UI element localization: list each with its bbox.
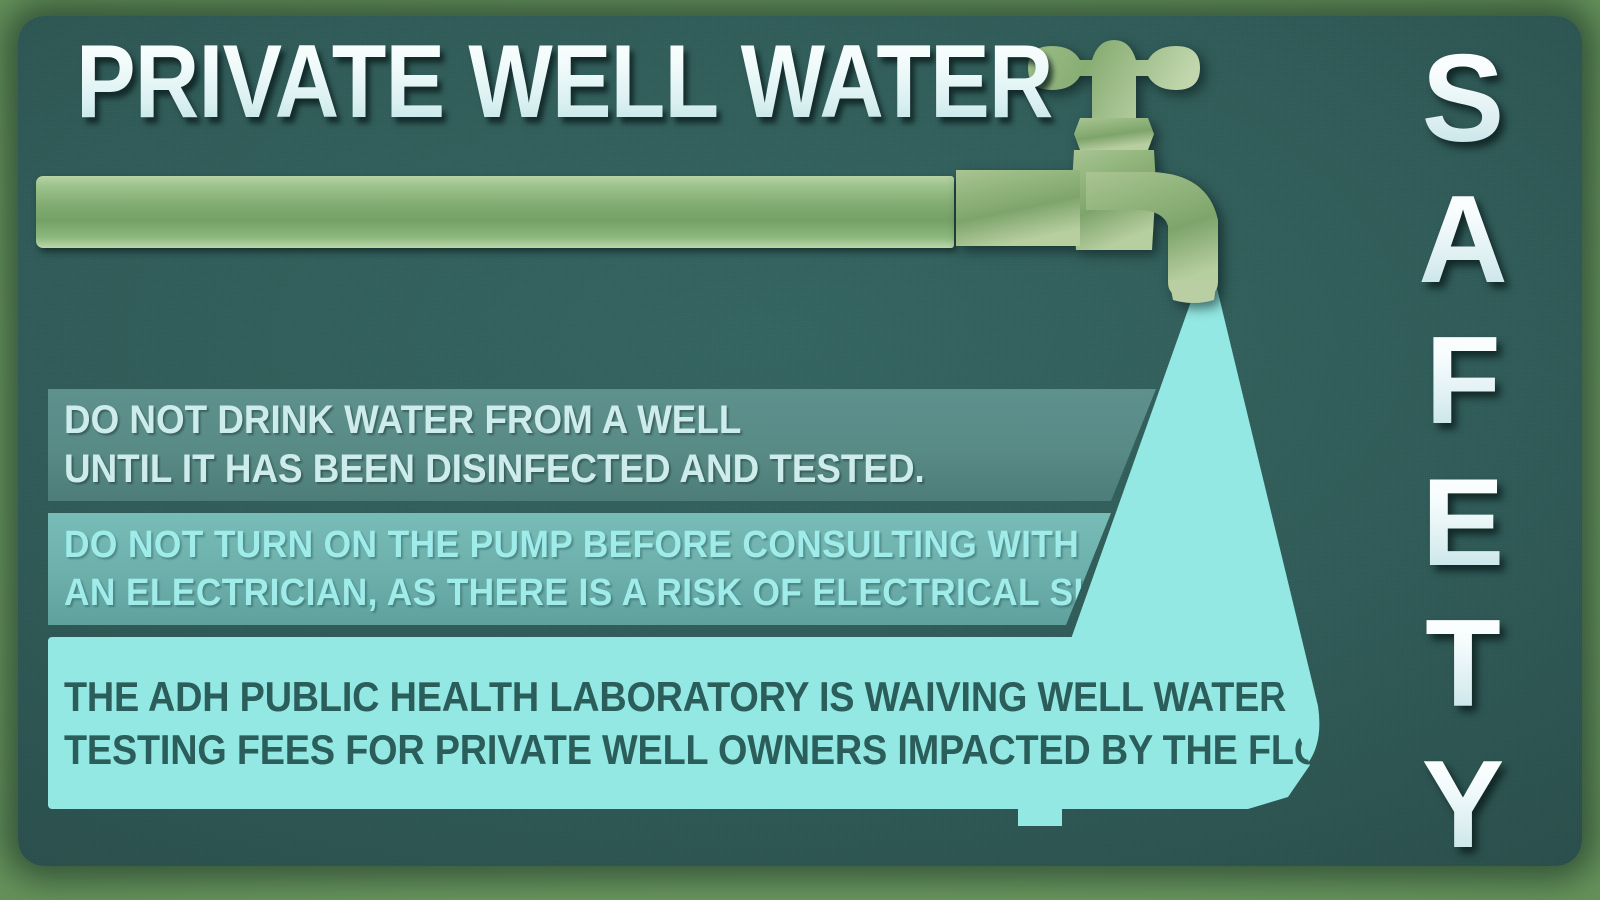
- safety-letter-t: T: [1425, 607, 1501, 721]
- safety-letter-a: A: [1418, 183, 1508, 297]
- warning-message-2: DO NOT TURN ON THE PUMP BEFORE CONSULTIN…: [48, 513, 1248, 625]
- warning-message-1: DO NOT DRINK WATER FROM A WELL UNTIL IT …: [48, 389, 1248, 501]
- pipe-bar-icon: [36, 176, 954, 248]
- message-line: UNTIL IT HAS BEEN DISINFECTED AND TESTED…: [64, 445, 1153, 494]
- message-line: DO NOT DRINK WATER FROM A WELL: [64, 396, 1153, 445]
- page-title: PRIVATE WELL WATER: [76, 30, 1053, 134]
- poster-root: PRIVATE WELL WATER: [0, 0, 1600, 900]
- safety-letter-s: S: [1422, 42, 1505, 156]
- vertical-safety-word: S A F E T Y: [1358, 34, 1568, 864]
- poster-panel: PRIVATE WELL WATER: [18, 16, 1582, 866]
- safety-letter-y: Y: [1422, 748, 1505, 862]
- message-line: THE ADH PUBLIC HEALTH LABORATORY IS WAIV…: [64, 670, 1185, 723]
- message-line: AN ELECTRICIAN, AS THERE IS A RISK OF EL…: [64, 569, 1165, 617]
- message-line: TESTING FEES FOR PRIVATE WELL OWNERS IMP…: [64, 723, 1185, 776]
- safety-letter-e: E: [1422, 466, 1505, 580]
- message-line: DO NOT TURN ON THE PUMP BEFORE CONSULTIN…: [64, 521, 1165, 569]
- safety-letter-f: F: [1425, 324, 1501, 438]
- info-message-3: THE ADH PUBLIC HEALTH LABORATORY IS WAIV…: [48, 637, 1310, 809]
